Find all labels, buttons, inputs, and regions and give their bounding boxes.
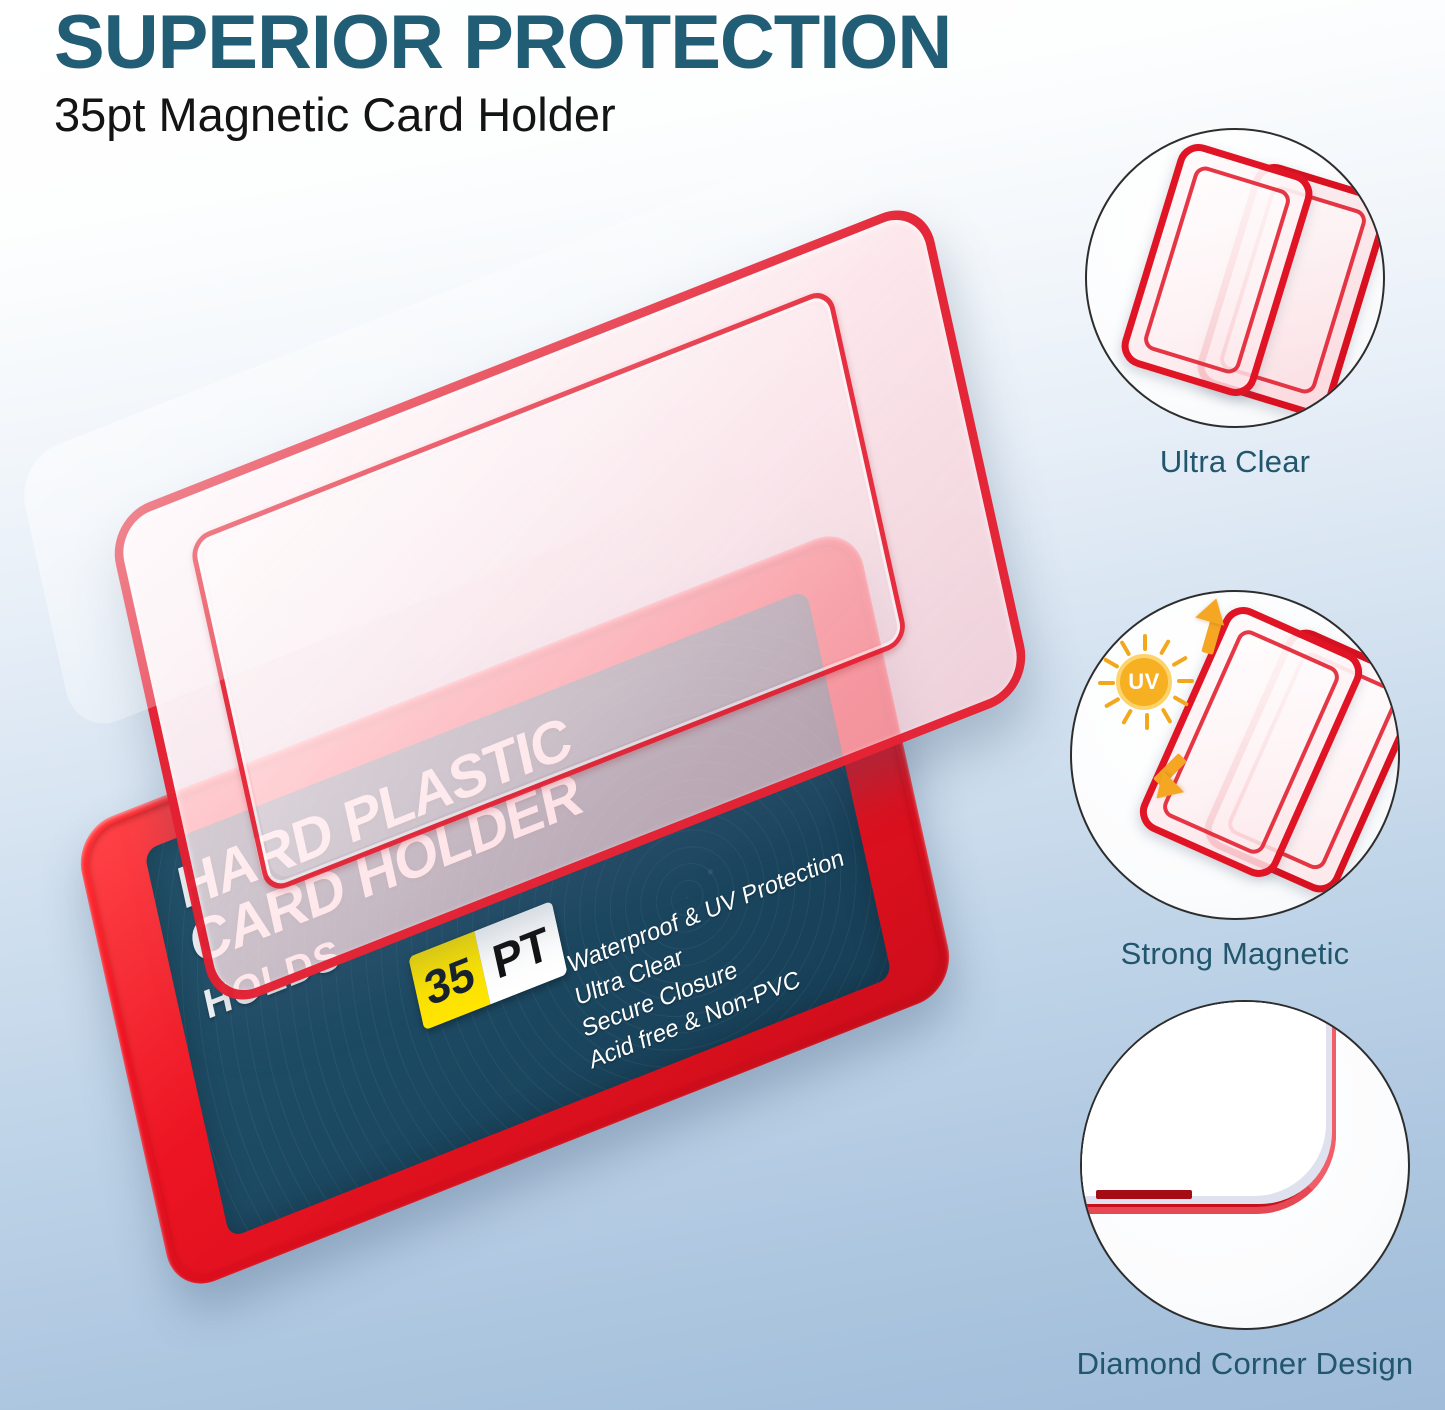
page-subtitle: 35pt Magnetic Card Holder bbox=[54, 86, 1445, 145]
insert-card-feature-list: Waterproof & UV Protection Ultra Clear S… bbox=[565, 842, 868, 1077]
page-title: SUPERIOR PROTECTION bbox=[54, 6, 1445, 80]
callout-ultra-clear-label: Ultra Clear bbox=[1035, 444, 1435, 480]
uv-arrow-up-icon bbox=[1195, 594, 1230, 625]
product-hero-image: HARD PLASTIC CARD HOLDER HOLDS 35 PT Wat… bbox=[0, 250, 1060, 1370]
corner-white-face bbox=[1080, 1000, 1326, 1196]
uv-label: UV bbox=[1116, 654, 1172, 710]
uv-sun-icon: UV bbox=[1098, 636, 1190, 728]
page-header: SUPERIOR PROTECTION 35pt Magnetic Card H… bbox=[0, 0, 1445, 145]
corner-notch bbox=[1096, 1190, 1192, 1199]
callout-strong-magnetic-circle: UV bbox=[1070, 590, 1400, 920]
callout-diamond-corner-circle bbox=[1080, 1000, 1410, 1330]
callout-diamond-corner: Diamond Corner Design bbox=[1045, 1000, 1445, 1382]
two-clear-card-holders-icon bbox=[1087, 130, 1383, 426]
callout-ultra-clear-circle bbox=[1085, 128, 1385, 428]
uv-sun-with-arrows-and-holder-icon: UV bbox=[1072, 592, 1398, 918]
feature-callout-column: Ultra Clear bbox=[1025, 0, 1445, 1410]
callout-strong-magnetic: UV Strong Magnetic bbox=[1035, 590, 1435, 972]
callout-diamond-corner-label: Diamond Corner Design bbox=[1045, 1346, 1445, 1382]
callout-strong-magnetic-label: Strong Magnetic bbox=[1035, 936, 1435, 972]
callout-ultra-clear: Ultra Clear bbox=[1035, 128, 1435, 480]
rounded-corner-closeup-icon bbox=[1082, 1002, 1408, 1328]
